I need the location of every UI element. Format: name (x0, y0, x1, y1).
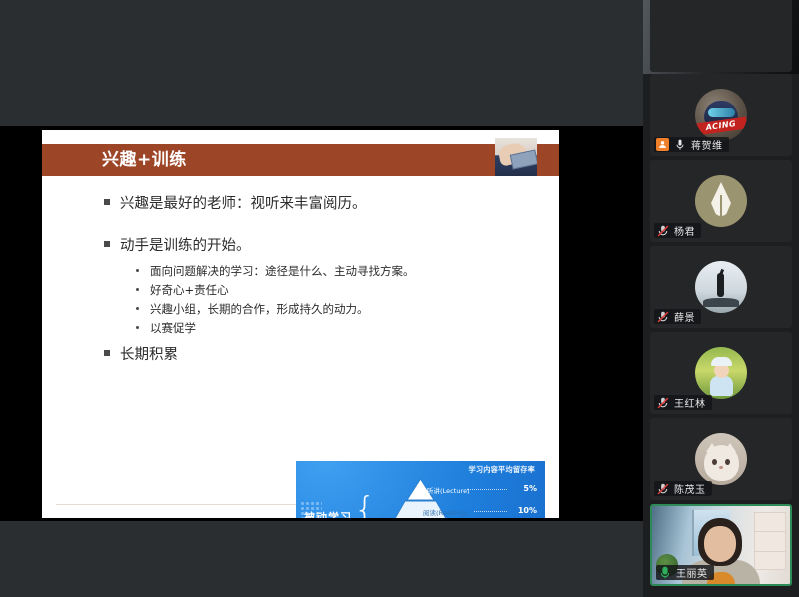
zoom-meeting-window: 兴趣+训练 兴趣是最好的老师：视听来丰富阅历。 动手是训练的开始。 面向问题解决… (0, 0, 799, 597)
participant-namebar: 王丽英 (656, 565, 714, 580)
slide-bullet-4: 好奇心+责任心 (136, 285, 229, 297)
chart-label-1: 阅读(Reading) (423, 508, 468, 517)
participant-name: 陈茂玉 (674, 481, 706, 496)
microphone-muted-icon (656, 224, 669, 237)
participant-tile-xuejing[interactable]: 薛景 (650, 246, 792, 328)
slide-bullet-7: 长期积累 (104, 348, 178, 363)
shared-screen-stage[interactable]: 兴趣+训练 兴趣是最好的老师：视听来丰富阅历。 动手是训练的开始。 面向问题解决… (0, 0, 643, 597)
chart-group-label-passive: 被动学习 (304, 509, 352, 518)
racing-helmet-avatar: ACING (695, 89, 747, 141)
participant-tile-jianghewei[interactable]: ACING 蒋贺维 (650, 74, 792, 156)
participant-name: 杨君 (674, 223, 695, 238)
slide-bullet-1: 兴趣是最好的老师：视听来丰富阅历。 (104, 197, 367, 212)
microphone-muted-icon (656, 482, 669, 495)
chart-value-0: 5% (523, 484, 537, 493)
participant-tile-yangjun[interactable]: 杨君 (650, 160, 792, 242)
slide-header-cap-left (479, 144, 496, 176)
learning-pyramid-chart: 学习内容平均留存率 听讲(Lecture) 阅读(Reading) 视听(Aud… (296, 461, 545, 518)
chart-value-1: 10% (518, 506, 537, 515)
microphone-muted-icon (656, 310, 669, 323)
bullet-dot-icon (136, 288, 139, 291)
slide-title: 兴趣+训练 (102, 146, 402, 174)
participant-tile-wanghonglin[interactable]: 王红林 (650, 332, 792, 414)
bullet-square-icon (104, 199, 110, 205)
participant-name: 王红林 (674, 395, 706, 410)
participant-namebar: 陈茂玉 (654, 481, 712, 496)
slide-bullet-6: 以赛促学 (136, 323, 196, 335)
participant-tile-wangliying[interactable]: 王丽英 (650, 504, 792, 586)
participant-namebar: 薛景 (654, 309, 701, 324)
microphone-unmuted-icon (673, 138, 686, 151)
bullet-dot-icon (136, 326, 139, 329)
participant-name: 王丽英 (676, 565, 708, 580)
participant-tile-chenmaoyu[interactable]: 陈茂玉 (650, 418, 792, 500)
brace-passive-icon: { (354, 493, 376, 518)
participant-name: 薛景 (674, 309, 695, 324)
slide-header-cap-right (537, 144, 559, 176)
chart-leader-0 (467, 489, 507, 490)
hand-holding-device-photo-icon (495, 138, 537, 176)
climber-silhouette-avatar (695, 261, 747, 313)
participant-namebar: 王红林 (654, 395, 712, 410)
participant-namebar: 蒋贺维 (654, 137, 729, 152)
slide-bullet-5: 兴趣小组，长期的合作，形成持久的动力。 (136, 304, 369, 316)
bullet-square-icon (104, 350, 110, 356)
host-badge-icon (656, 138, 669, 151)
bullet-square-icon (104, 241, 110, 247)
presentation-slide: 兴趣+训练 兴趣是最好的老师：视听来丰富阅历。 动手是训练的开始。 面向问题解决… (42, 130, 559, 518)
microphone-muted-icon (656, 396, 669, 409)
chart-leader-1 (474, 511, 507, 512)
cat-avatar (695, 433, 747, 485)
microphone-active-icon (658, 566, 671, 579)
slide-bullet-3: 面向问题解决的学习：途径是什么、主动寻找方案。 (136, 266, 415, 278)
slide-bullet-2: 动手是训练的开始。 (104, 239, 251, 254)
bullet-dot-icon (136, 269, 139, 272)
leaf-avatar (695, 175, 747, 227)
participant-name: 蒋贺维 (691, 137, 723, 152)
participant-tile-partial[interactable] (650, 0, 792, 72)
bullet-dot-icon (136, 307, 139, 310)
participant-namebar: 杨君 (654, 223, 701, 238)
participant-strip[interactable]: ACING 蒋贺维 杨君 (643, 0, 799, 597)
girl-in-field-avatar (695, 347, 747, 399)
chart-label-0: 听讲(Lecture) (427, 486, 470, 495)
